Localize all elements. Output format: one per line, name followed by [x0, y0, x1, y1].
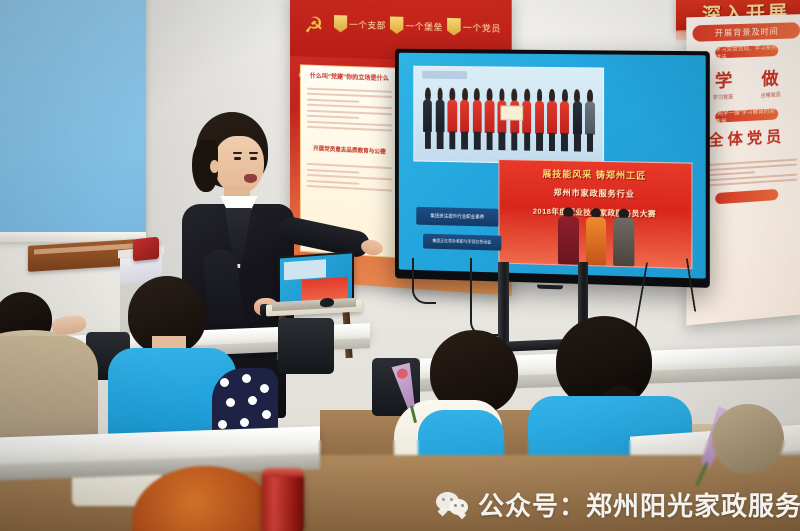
award-photo-people: [556, 202, 637, 266]
tv-brand-bar: [537, 285, 563, 290]
presentation-tv[interactable]: 展技能风采 铸郑州工匠 郑州市家政服务行业 2018年度职业技能家政服务员大赛 …: [395, 49, 710, 288]
thermos-cap: [262, 468, 304, 477]
slide-caption-2-box: 集团正在举办老职与学员红色动会: [423, 233, 501, 250]
dove-icon: ❧: [298, 70, 332, 111]
award-banner-line-1: 展技能风采 铸郑州工匠: [507, 166, 684, 183]
mouse[interactable]: [320, 298, 334, 308]
poster-right-pill-1: 学习党章党规、学习系列讲话: [715, 45, 778, 58]
presenter-mouth: [244, 174, 257, 183]
presenter-ear: [210, 160, 219, 173]
presenter-brow-left: [233, 152, 242, 154]
chair-back: [278, 318, 334, 374]
slogan-tag-icon: [390, 16, 403, 34]
red-bag: [133, 237, 159, 262]
slide-group-photo: [414, 66, 605, 165]
hammer-sickle-icon: ☭: [304, 14, 330, 39]
window-blind: [0, 0, 146, 242]
laptop-slide-photo-1: [284, 259, 326, 280]
presenter-eye-left: [234, 157, 241, 160]
thermos-flask: [262, 470, 304, 531]
award-banner-line-2: 郑州市家政服务行业: [507, 187, 684, 202]
cable: [470, 258, 498, 336]
slide-award-photo: 展技能风采 铸郑州工匠 郑州市家政服务行业 2018年度职业技能家政服务员大赛: [498, 159, 692, 269]
poster-right-small-right: 合格党员: [761, 91, 781, 99]
poster-right-small-left: 学习党章: [713, 93, 734, 101]
photo-scene: ☭ 一个支部 一个堡垒 一个党员 什么叫“党建”你的立场是什么 开展党员意志品质…: [0, 0, 800, 531]
poster-right-pill-2: “两学一做”学习教育的对象是: [715, 108, 778, 122]
slogan-tag-icon: [447, 18, 461, 36]
tv-screen: 展技能风采 铸郑州工匠 郑州市家政服务行业 2018年度职业技能家政服务员大赛 …: [399, 53, 706, 279]
slide-caption-1: 集团关注提升行业职业素养: [430, 213, 484, 220]
attendee-head: [712, 404, 784, 474]
presenter-brow-right: [249, 152, 258, 154]
slogan-text-2: 一个堡垒: [405, 19, 442, 32]
slide-caption-2: 集团正在举办老职与学员红色动会: [432, 238, 491, 246]
cable: [412, 258, 436, 304]
certificate-prop: [501, 105, 524, 120]
slide-caption-1-box: 集团关注提升行业职业素养: [417, 207, 498, 226]
slide-photo-logo: [422, 71, 467, 80]
slogan-text-3: 一个党员: [463, 21, 501, 34]
presenter-eye-right: [250, 157, 257, 160]
slogan-tag-icon: [334, 15, 347, 32]
slogan-text-1: 一个支部: [349, 18, 386, 31]
